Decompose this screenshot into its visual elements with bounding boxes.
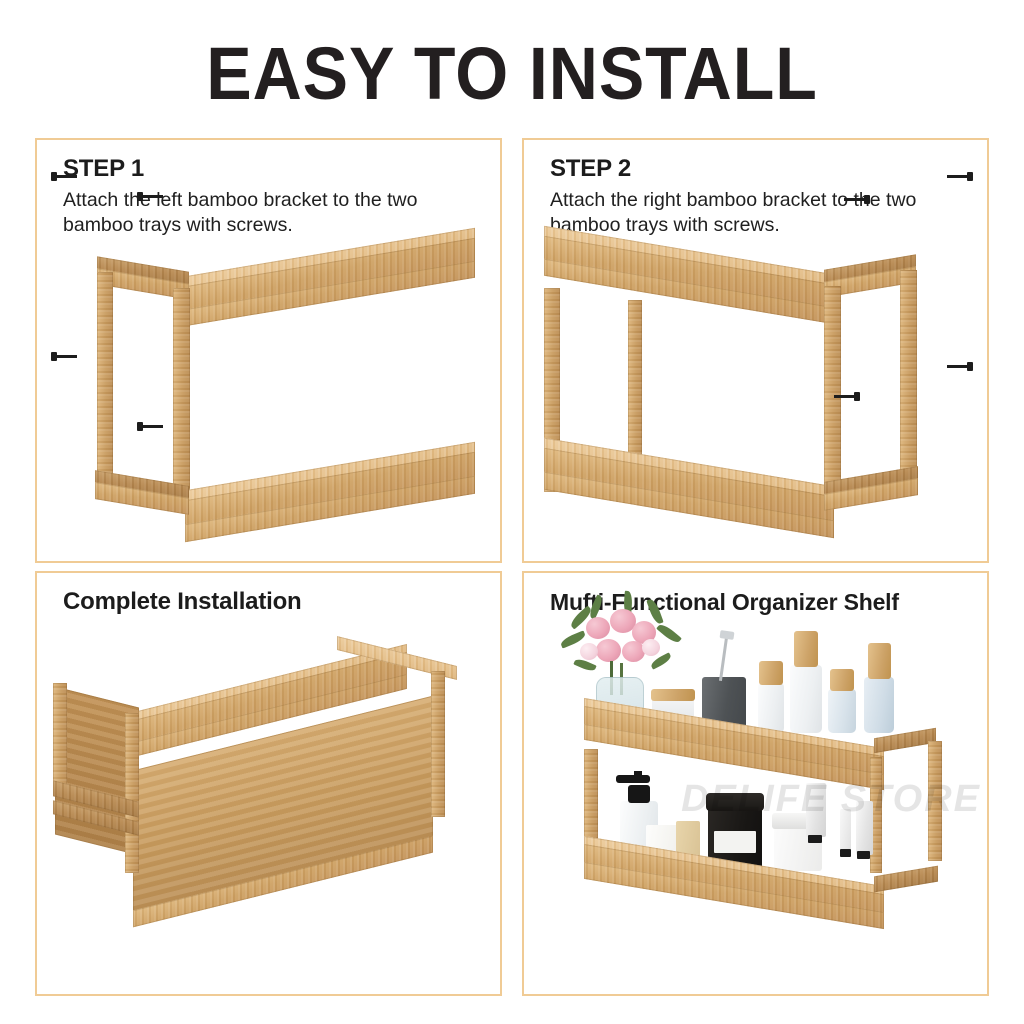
panel-step-1-illustration [37,140,500,561]
steps-grid: STEP 1 Attach the left bamboo bracket to… [35,138,989,996]
screw-top-left [51,172,77,181]
shelf-post-rear-right [928,741,942,861]
screw-top-inner [844,195,870,204]
blue-bottle-tall [864,677,894,733]
black-cosmetic-jar-lid [706,793,764,811]
silver-tube-short [856,801,873,855]
greenery-leaf [656,622,682,646]
lip-balm-tube-cap [840,849,851,857]
panel-step-1: STEP 1 Attach the left bamboo bracket to… [35,138,502,563]
panel-organizer-shelf-illustration: DELIFE STORE [524,573,987,994]
screw-top-inner [137,192,163,201]
white-bottle-short-cap [759,661,783,685]
soap-dispenser-nozzle [616,775,650,783]
page-title: EASY TO INSTALL [41,34,983,114]
crate-post-rear-left [53,683,67,795]
lip-balm-tube [840,809,851,853]
candle-jar-bamboo-lid [651,689,695,701]
bracket-front-post [173,288,190,504]
panel-step-2: STEP 2 Attach the right bamboo bracket t… [522,138,989,563]
screw-bottom-inner [834,392,860,401]
screw-bottom-left [51,352,77,361]
greenery-leaf [587,594,604,619]
toothbrush-handle [719,637,728,681]
panel-complete-installation-illustration [37,573,500,994]
crate-post-front-left [125,713,139,873]
soap-dispenser-pump-collar [628,785,650,803]
panel-organizer-shelf: Mufti-Functional Organizer Shelf [522,571,989,996]
white-bottle-tall-cap [794,631,818,667]
rose-bloom [596,639,621,662]
blue-bottle-short-cap [830,669,854,691]
rose-bloom-pale [642,639,660,656]
silver-tube-tall [806,783,826,837]
white-bottle-tall [790,665,822,733]
screw-bottom-inner [137,422,163,431]
bracket-rear-post [900,270,917,476]
toothbrush-head [720,630,735,640]
screw-top-right [947,172,973,181]
panel-complete-installation: Complete Installation [35,571,502,996]
blue-bottle-tall-cap [868,643,891,679]
panel-step-2-illustration [524,140,987,561]
blue-bottle-short [828,689,856,733]
black-jar-label [714,831,756,853]
screw-bottom-right [947,362,973,371]
rose-bloom-pale [580,643,598,660]
silver-tube-tall-cap [808,835,822,843]
soap-dispenser-stem [634,771,642,781]
white-bottle-short [758,683,784,733]
bracket-rear-post [97,272,113,480]
silver-tube-short-cap [857,851,870,859]
rose-bloom [586,617,610,639]
crate-post-rear-right [431,671,445,817]
lower-tray-right-end [874,866,938,893]
